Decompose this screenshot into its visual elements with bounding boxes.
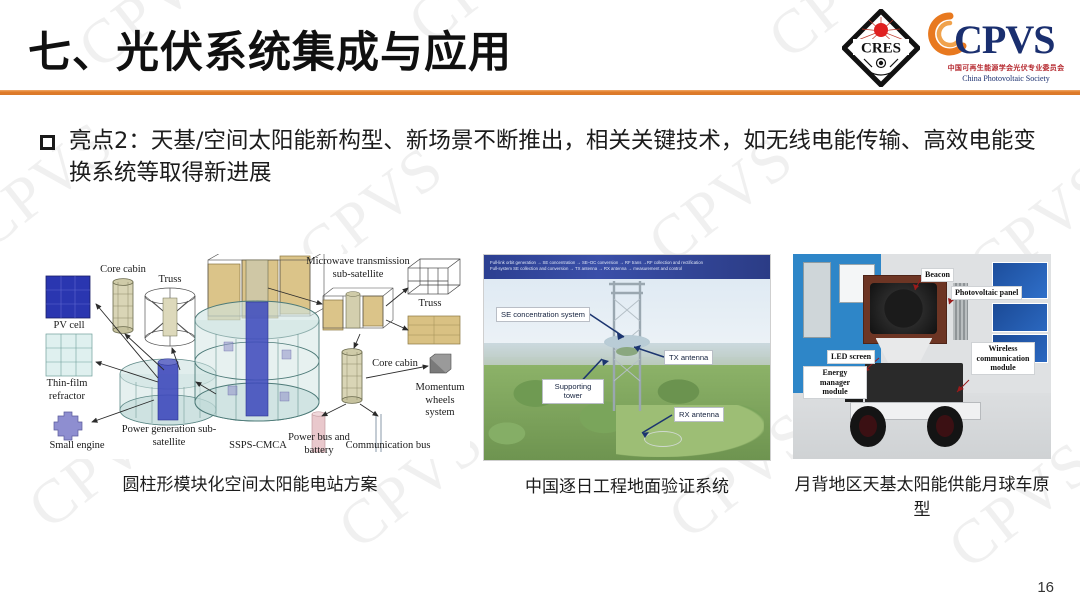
banner-line-2: Full-system SE collection and conversion… [490, 266, 764, 272]
label-truss-right: Truss [410, 298, 450, 311]
figure-ssps-cmca-image: PV cell Thin-film refractor Small engine… [30, 254, 470, 459]
slide-header: 七、光伏系统集成与应用 CRES [0, 0, 1080, 95]
callout-beacon: Beacon [921, 268, 954, 282]
cpvs-logo: CPVS 中国可再生能源学会光伏专业委员会 China Photovoltaic… [928, 8, 1068, 88]
figure-caption: 月背地区天基太阳能供能月球车原型 [793, 473, 1051, 522]
bullet-item: 亮点2：天基/空间太阳能新构型、新场景不断推出，相关关键技术，如无线电能传输、高… [40, 126, 1040, 190]
figure-lunar-rover-image: Beacon Photovoltaic panel LED screen Ene… [793, 254, 1051, 459]
label-communication-bus: Communication bus [340, 440, 436, 453]
label-ssps-cmca: SSPS-CMCA [220, 440, 296, 453]
cpvs-english-name: China Photovoltaic Society [944, 74, 1068, 83]
figure-zhuri-image: Full-link orbit generation → SE concentr… [483, 254, 771, 461]
cpvs-chinese-name: 中国可再生能源学会光伏专业委员会 [944, 63, 1068, 73]
figure-caption: 圆柱形模块化空间太阳能电站方案 [30, 473, 470, 498]
figure-caption: 中国逐日工程地面验证系统 [483, 475, 771, 500]
label-truss-left: Truss [150, 274, 190, 287]
page-number: 16 [1037, 579, 1054, 596]
logo-group: CRES CPVS 中国可再生能源学会光伏专业委员会 [838, 6, 1068, 90]
label-pv-cell: PV cell [42, 320, 96, 333]
figure-zhuri-verification: Full-link orbit generation → SE concentr… [483, 254, 771, 500]
label-thin-film-refractor: Thin-film refractor [36, 378, 98, 403]
title-divider-rule [0, 90, 1080, 95]
figure-row: PV cell Thin-film refractor Small engine… [0, 252, 1080, 552]
callout-wireless-communication-module: Wireless communication module [971, 342, 1035, 375]
rover-photo: Beacon Photovoltaic panel LED screen Ene… [793, 254, 1051, 459]
label-power-generation-sub-satellite: Power generation sub-satellite [116, 424, 222, 449]
cpvs-wordmark: CPVS [954, 16, 1054, 63]
square-bullet-icon [40, 135, 55, 150]
callout-rx-antenna: RX antenna [674, 407, 724, 422]
callout-photovoltaic-panel: Photovoltaic panel [951, 286, 1022, 300]
callout-supporting-tower: Supporting tower [542, 379, 604, 404]
callout-energy-manager-module: Energy manager module [803, 366, 867, 399]
cres-logo: CRES [842, 9, 920, 87]
process-banner: Full-link orbit generation → SE concentr… [484, 255, 770, 279]
label-core-cabin-right: Core cabin [362, 358, 428, 371]
svg-text:CRES: CRES [861, 41, 901, 57]
figure-ssps-cmca: PV cell Thin-film refractor Small engine… [30, 254, 470, 498]
page-title: 七、光伏系统集成与应用 [28, 18, 512, 80]
ssps-diagram: PV cell Thin-film refractor Small engine… [30, 254, 470, 459]
slide: CPVS CPVS CPVS CPVS CPVS CPVS CPVS CPVS … [0, 0, 1080, 608]
bullet-block: 亮点2：天基/空间太阳能新构型、新场景不断推出，相关关键技术，如无线电能传输、高… [40, 126, 1040, 190]
bullet-text: 亮点2：天基/空间太阳能新构型、新场景不断推出，相关关键技术，如无线电能传输、高… [69, 126, 1040, 190]
callout-led-screen: LED screen [827, 350, 875, 364]
label-momentum-wheels-system: Momentum wheels system [412, 382, 468, 420]
figure-lunar-rover: Beacon Photovoltaic panel LED screen Ene… [793, 254, 1051, 522]
zhuri-photo: Full-link orbit generation → SE concentr… [484, 255, 770, 460]
label-core-cabin-left: Core cabin [88, 264, 158, 277]
label-small-engine: Small engine [34, 440, 120, 453]
label-microwave-transmission-sub-satellite: Microwave transmission sub-satellite [300, 256, 416, 281]
callout-se-concentration-system: SE concentration system [496, 307, 590, 322]
callout-tx-antenna: TX antenna [664, 350, 713, 365]
